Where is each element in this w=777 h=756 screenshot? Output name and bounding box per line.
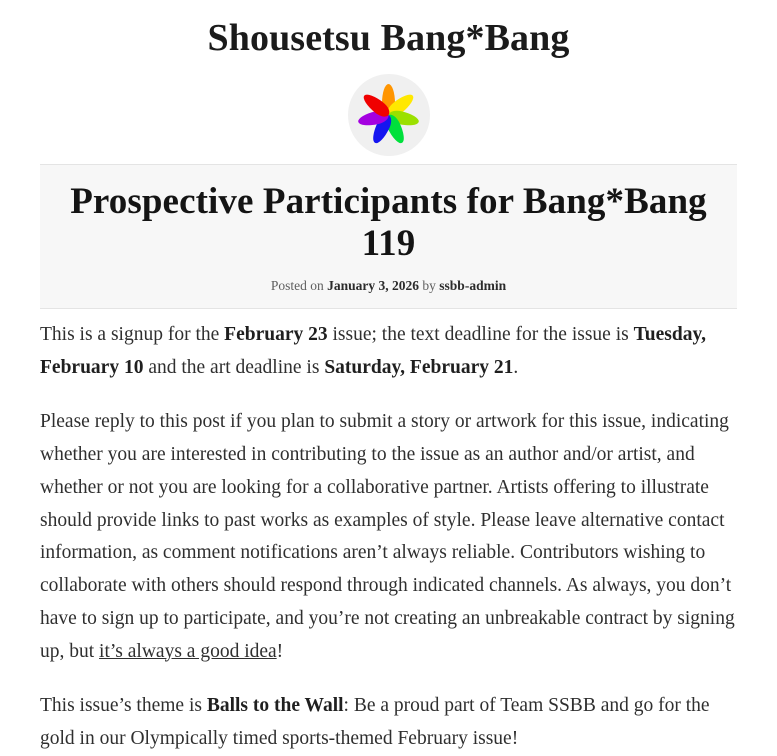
- inline-link[interactable]: it’s always a good idea: [99, 641, 277, 662]
- post-author-link[interactable]: ssbb-admin: [439, 278, 506, 293]
- paragraph-p1: This is a signup for the February 23 iss…: [40, 319, 737, 385]
- body-text: This issue’s theme is: [40, 695, 207, 716]
- post-title[interactable]: Prospective Participants for Bang*Bang 1…: [50, 181, 727, 266]
- post-meta: Posted on January 3, 2026 by ssbb-admin: [50, 278, 727, 294]
- body-text: !: [277, 641, 284, 662]
- site-logo-wrap: [0, 74, 777, 156]
- post-content: This is a signup for the February 23 iss…: [40, 309, 737, 756]
- rainbow-pinwheel-logo-icon[interactable]: [348, 74, 430, 156]
- posted-on-label: Posted on: [271, 278, 324, 293]
- post-entry-header: Prospective Participants for Bang*Bang 1…: [40, 164, 737, 309]
- emphasis-text: February 23: [224, 324, 327, 345]
- emphasis-text: Balls to the Wall: [207, 695, 344, 716]
- body-text: Please reply to this post if you plan to…: [40, 411, 735, 661]
- paragraph-p2: Please reply to this post if you plan to…: [40, 406, 737, 668]
- post-article: Prospective Participants for Bang*Bang 1…: [0, 164, 777, 756]
- emphasis-text: Saturday, February 21: [324, 357, 513, 378]
- by-label: by: [422, 278, 436, 293]
- post-date[interactable]: January 3, 2026: [327, 278, 419, 293]
- body-text: .: [513, 357, 518, 378]
- page-root: Shousetsu Bang*Bang Prospective Particip…: [0, 0, 777, 756]
- site-header: Shousetsu Bang*Bang: [0, 0, 777, 156]
- site-title[interactable]: Shousetsu Bang*Bang: [0, 18, 777, 60]
- body-text: This is a signup for the: [40, 324, 224, 345]
- paragraph-p3: This issue’s theme is Balls to the Wall:…: [40, 690, 737, 756]
- body-text: and the art deadline is: [143, 357, 324, 378]
- body-text: issue; the text deadline for the issue i…: [328, 324, 634, 345]
